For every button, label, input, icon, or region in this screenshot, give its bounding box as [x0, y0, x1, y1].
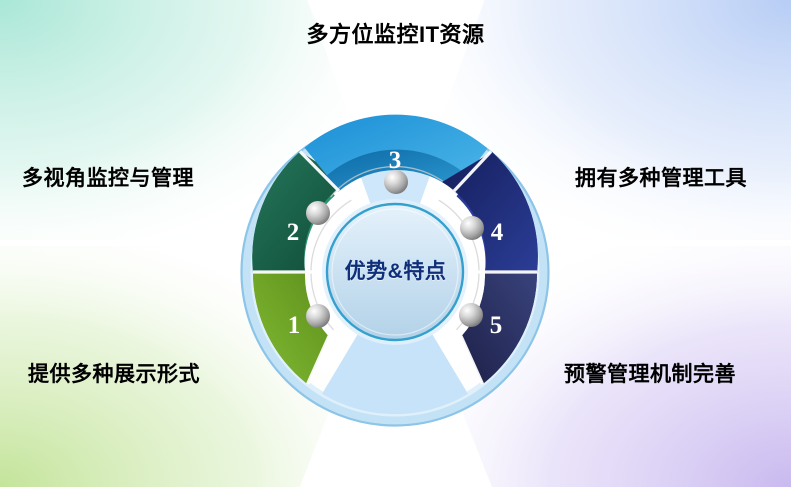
label-left-middle: 多视角监控与管理	[22, 168, 194, 189]
page-title: 多方位监控IT资源	[0, 24, 791, 46]
segment-number-1: 1	[288, 312, 301, 339]
segment-number-4: 4	[491, 219, 504, 246]
sphere-marker-icon-2[interactable]	[306, 201, 330, 225]
segment-number-2: 2	[287, 219, 300, 246]
segment-number-5: 5	[490, 312, 503, 339]
center-label: 优势&特点	[0, 255, 791, 285]
sphere-marker-icon-4[interactable]	[460, 216, 484, 240]
diagram-canvas: 1 2 3 4 5	[0, 0, 791, 487]
label-bottom-right: 预警管理机制完善	[564, 364, 736, 385]
label-right-middle: 拥有多种管理工具	[575, 168, 747, 189]
segment-number-3: 3	[389, 147, 402, 174]
sphere-marker-icon-1[interactable]	[306, 304, 330, 328]
label-bottom-left: 提供多种展示形式	[28, 364, 200, 385]
sphere-marker-icon-5[interactable]	[459, 303, 483, 327]
